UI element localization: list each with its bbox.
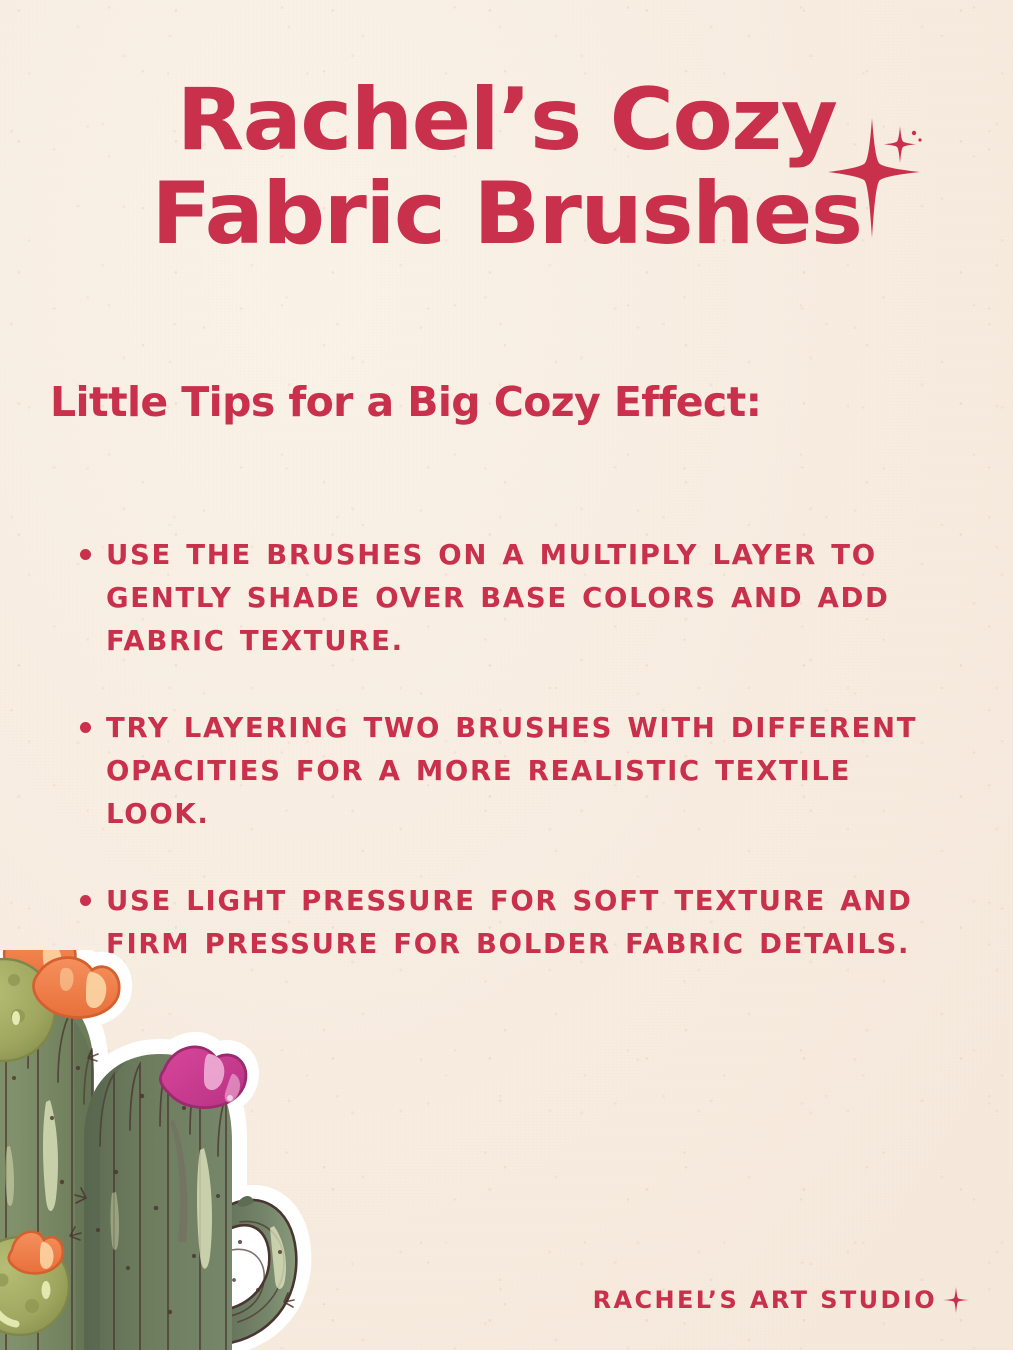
title-line-2: Fabric Brushes <box>0 168 1013 262</box>
tips-list: Use the brushes on a multiply layer to g… <box>72 534 952 1010</box>
studio-name: Rachel’s Art Studio <box>593 1286 937 1314</box>
tip-text: Try layering two brushes with different … <box>106 712 917 830</box>
list-item: Use the brushes on a multiply layer to g… <box>72 534 952 663</box>
title-line-1: Rachel’s Cozy <box>0 74 1013 168</box>
poster-canvas: Rachel’s Cozy Fabric Brushes Little Tips… <box>0 0 1013 1350</box>
cactus-sticker-illustration <box>0 950 328 1350</box>
page-title: Rachel’s Cozy Fabric Brushes <box>0 74 1013 261</box>
list-item: Use light pressure for soft texture and … <box>72 880 952 966</box>
sparkle-four-point-icon <box>943 1287 969 1313</box>
tip-text: Use light pressure for soft texture and … <box>106 885 913 960</box>
bullet-dot-icon <box>80 549 91 560</box>
list-item: Try layering two brushes with different … <box>72 707 952 836</box>
bullet-dot-icon <box>80 895 91 906</box>
section-subhead: Little Tips for a Big Cozy Effect: <box>50 378 761 426</box>
bullet-dot-icon <box>80 722 91 733</box>
footer: Rachel’s Art Studio <box>593 1286 969 1314</box>
tip-text: Use the brushes on a multiply layer to g… <box>106 539 890 657</box>
